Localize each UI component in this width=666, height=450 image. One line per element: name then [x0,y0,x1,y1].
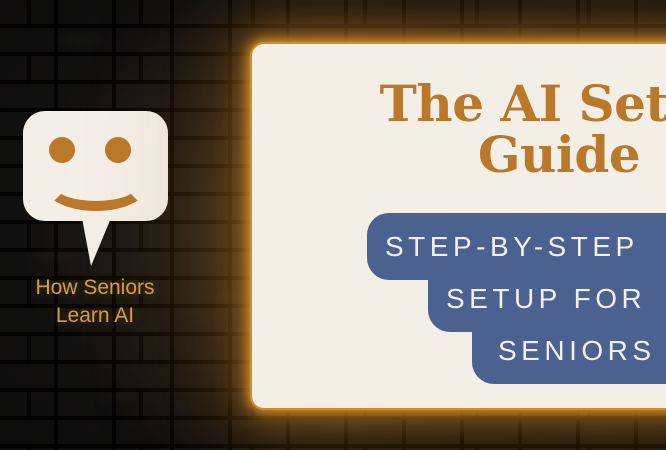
glowing-card: The AI Setup Guide STEP-BY-STEP SETUP FO… [250,42,666,410]
page-title: The AI Setup Guide [344,78,666,180]
caption-text: How Seniors Learn AI [0,274,190,329]
speech-bubble [23,111,168,221]
smiley-left-eye-icon [49,137,75,163]
poster-canvas: How Seniors Learn AI The AI Setup Guide … [0,0,666,450]
step-line-3: SENIORS [472,317,666,384]
stepped-subtitle-band: STEP-BY-STEP SETUP FOR SENIORS [367,213,666,403]
smiley-mouth-icon [44,159,148,211]
speech-bubble-tail [82,218,111,266]
